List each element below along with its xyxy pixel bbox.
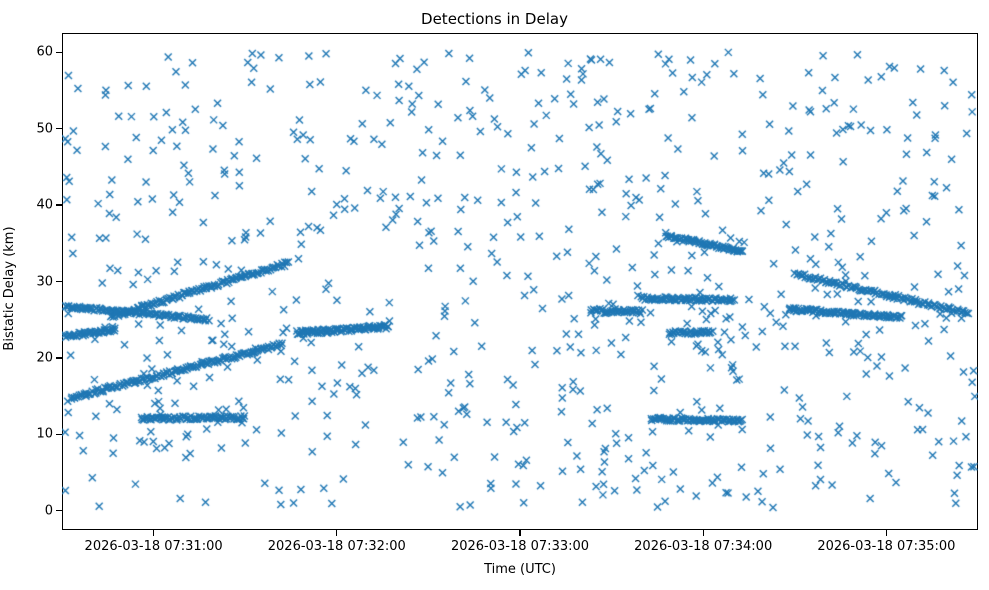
y-tick-label: 60 bbox=[36, 45, 53, 60]
y-tick-mark bbox=[56, 434, 62, 435]
y-tick-label: 0 bbox=[45, 503, 53, 518]
y-tick-mark bbox=[56, 204, 62, 205]
y-tick-label: 50 bbox=[36, 121, 53, 136]
x-tick-mark bbox=[519, 530, 520, 536]
x-tick-label: 2026-03-18 07:35:00 bbox=[817, 539, 955, 554]
x-tick-label: 2026-03-18 07:31:00 bbox=[85, 539, 223, 554]
y-tick-mark bbox=[56, 357, 62, 358]
y-tick-mark bbox=[56, 128, 62, 129]
x-tick-mark bbox=[336, 530, 337, 536]
y-tick-mark bbox=[56, 510, 62, 511]
y-tick-mark bbox=[56, 281, 62, 282]
y-axis-label: Bistatic Delay (km) bbox=[2, 40, 17, 537]
y-tick-label: 40 bbox=[36, 198, 53, 213]
y-tick-mark bbox=[56, 52, 62, 53]
chart-title: Detections in Delay bbox=[0, 10, 989, 28]
y-tick-label: 20 bbox=[36, 350, 53, 365]
x-tick-label: 2026-03-18 07:32:00 bbox=[268, 539, 406, 554]
x-tick-mark bbox=[886, 530, 887, 536]
y-tick-label: 10 bbox=[36, 427, 53, 442]
x-tick-mark bbox=[153, 530, 154, 536]
x-tick-label: 2026-03-18 07:34:00 bbox=[634, 539, 772, 554]
scatter-plot-canvas bbox=[62, 33, 978, 530]
y-tick-label: 30 bbox=[36, 274, 53, 289]
matplotlib-figure: Detections in Delay 0102030405060 2026-0… bbox=[0, 0, 989, 590]
x-tick-label: 2026-03-18 07:33:00 bbox=[451, 539, 589, 554]
x-axis-label: Time (UTC) bbox=[62, 562, 978, 577]
x-tick-mark bbox=[703, 530, 704, 536]
